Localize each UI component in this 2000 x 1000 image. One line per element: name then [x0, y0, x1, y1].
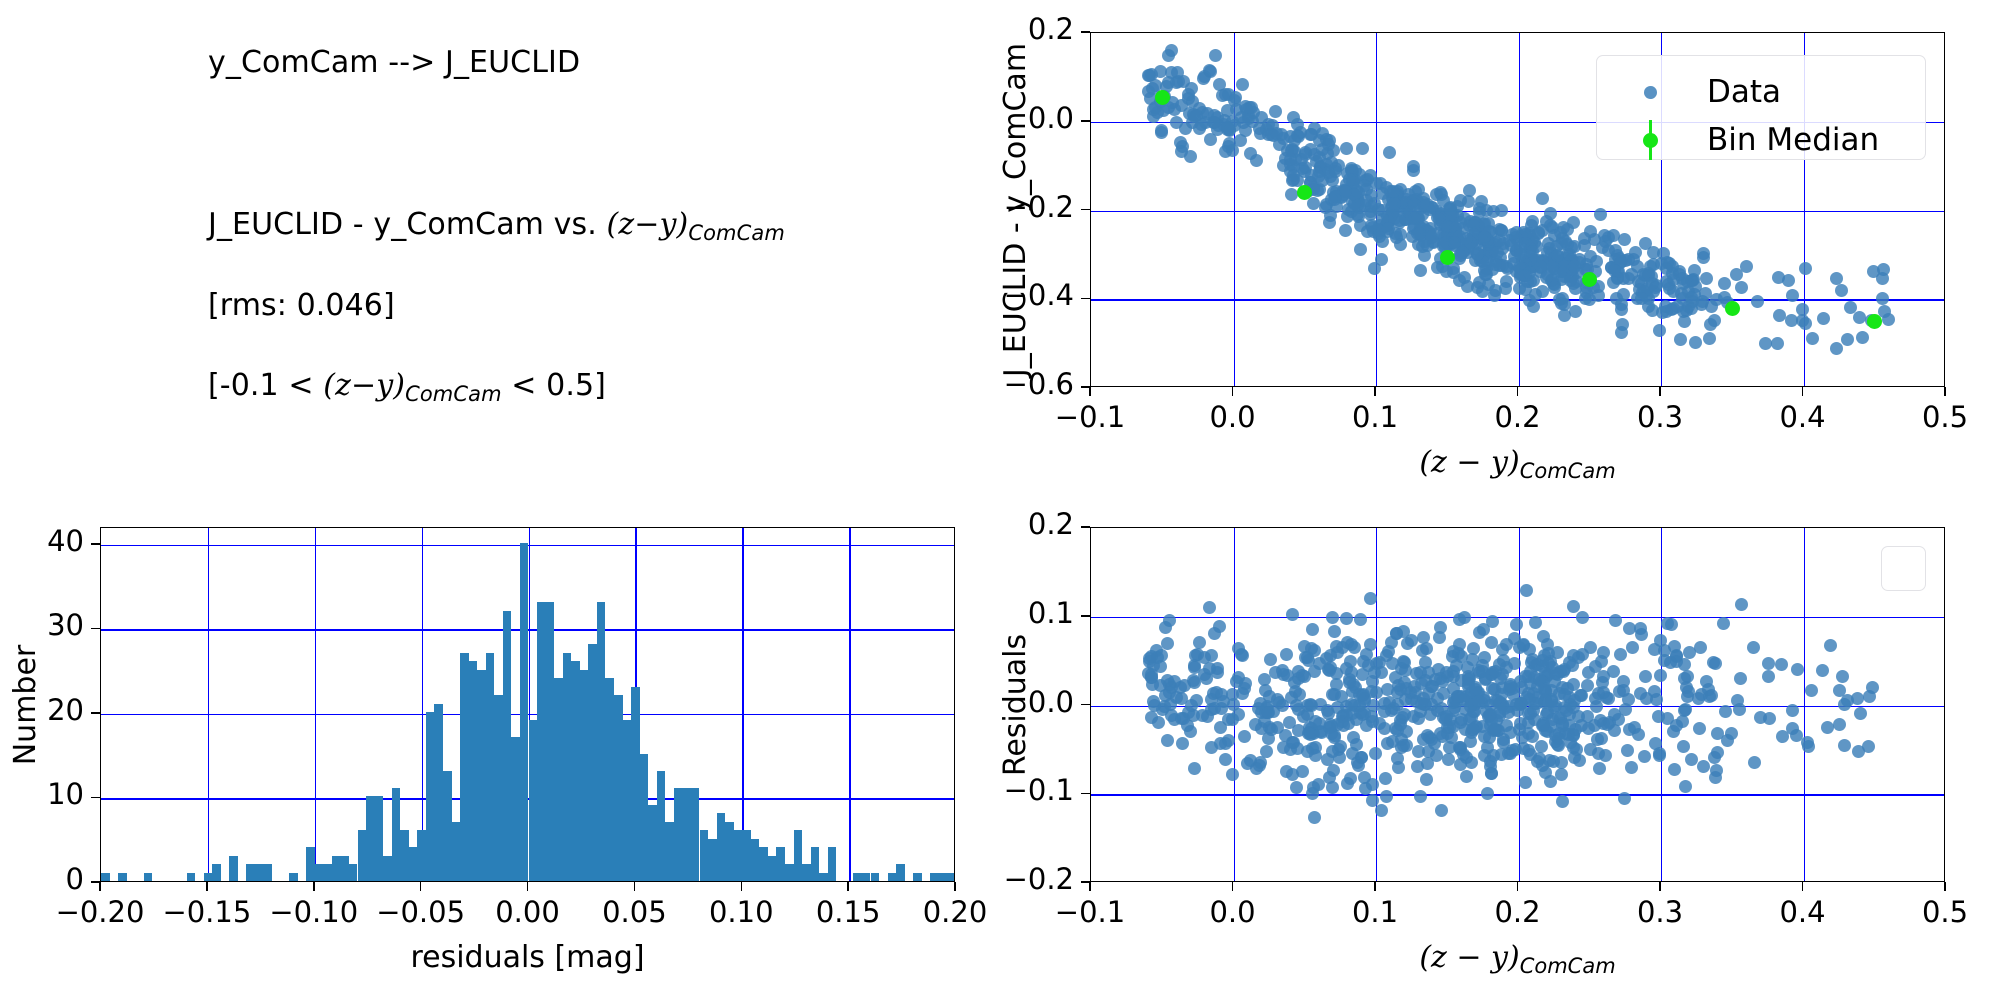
x-tick [1944, 882, 1946, 891]
residual-point [1626, 641, 1639, 654]
x-tick [1089, 882, 1091, 891]
residual-point [1340, 612, 1353, 625]
residual-point [1285, 691, 1298, 704]
residual-point [1510, 618, 1523, 631]
residual-point [1161, 734, 1174, 747]
residual-point [1205, 693, 1218, 706]
residual-point [1623, 622, 1636, 635]
x-tick-label: 0.2 [1448, 895, 1588, 929]
residual-point [1517, 638, 1530, 651]
residual-point [1467, 642, 1480, 655]
residual-point [1821, 721, 1834, 734]
residual-point [1685, 753, 1698, 766]
residual-point [1623, 723, 1636, 736]
residual-point [1412, 745, 1425, 758]
residual-point [1238, 730, 1251, 743]
x-tick [1802, 882, 1804, 891]
residual-point [1190, 694, 1203, 707]
residual-point [1375, 804, 1388, 817]
residual-point [1582, 722, 1595, 735]
residual-point [1308, 811, 1321, 824]
residual-point [1236, 649, 1249, 662]
residual-point [1754, 711, 1767, 724]
bin-median-point [1155, 90, 1170, 105]
x-tick-label: 0.3 [1590, 895, 1730, 929]
residual-point [1852, 745, 1865, 758]
residual-point [1519, 776, 1532, 789]
y-tick-label: −0.2 [914, 862, 1074, 896]
y-tick-label: 0.2 [914, 507, 1074, 541]
residual-point [1469, 681, 1482, 694]
figure-canvas: y_ComCam --> J_EUCLID J_EUCLID - y_ComCa… [0, 0, 2000, 1000]
residual-point [1453, 638, 1466, 651]
residual-point [1497, 736, 1510, 749]
residual-point [1670, 650, 1683, 663]
residual-point [1301, 651, 1314, 664]
residual-point [1264, 653, 1277, 666]
residual-point [1776, 730, 1789, 743]
residual-point [1280, 648, 1293, 661]
residual-point [1561, 682, 1574, 695]
residual-point [1762, 657, 1775, 670]
x-tick [1232, 882, 1234, 891]
x-tick-label: 0.1 [1305, 895, 1445, 929]
residual-point [1344, 772, 1357, 785]
residual-point [1639, 670, 1652, 683]
residual-point [1260, 745, 1273, 758]
residual-point [1618, 792, 1631, 805]
residual-point [1617, 675, 1630, 688]
residual-point [1677, 740, 1690, 753]
residual-point [1405, 634, 1418, 647]
residual-point [1321, 753, 1334, 766]
residual-point [1790, 729, 1803, 742]
residual-point [1283, 716, 1296, 729]
residual-point [1176, 737, 1189, 750]
residual-point [1161, 637, 1174, 650]
residual-point [1556, 795, 1569, 808]
residual-point [1653, 749, 1666, 762]
residual-point [1625, 761, 1638, 774]
residual-point [1453, 741, 1466, 754]
residual-point [1576, 611, 1589, 624]
x-axis-label: (z − y)ComCam [1358, 940, 1678, 978]
residual-point [1203, 601, 1216, 614]
residual-point [1838, 739, 1851, 752]
residual-point [1576, 648, 1589, 661]
residual-point [1458, 611, 1471, 624]
residual-point [1416, 644, 1429, 657]
residual-point [1288, 676, 1301, 689]
residual-point [1460, 770, 1473, 783]
residual-point [1472, 695, 1485, 708]
residual-point [1654, 669, 1667, 682]
residual-point [1592, 747, 1605, 760]
residual-point [1429, 673, 1442, 686]
residual-point [1286, 608, 1299, 621]
residual-point [1735, 598, 1748, 611]
residual-point [1290, 781, 1303, 794]
residual-point [1692, 692, 1705, 705]
residual-point [1390, 627, 1403, 640]
residual-point [1694, 641, 1707, 654]
residual-point [1346, 747, 1359, 760]
residual-point [1253, 759, 1266, 772]
residual-point [1535, 740, 1548, 753]
residual-point [1734, 672, 1747, 685]
residual-point [1700, 675, 1713, 688]
residual-point [1531, 680, 1544, 693]
grid-line-vertical [1661, 528, 1662, 881]
x-tick-label: 0.5 [1875, 895, 2000, 929]
residual-point [1721, 734, 1734, 747]
residual-point [1478, 730, 1491, 743]
residual-point [1433, 631, 1446, 644]
residual-point [1391, 698, 1404, 711]
residual-point [1452, 690, 1465, 703]
residual-point [1593, 762, 1606, 775]
residual-point [1421, 757, 1434, 770]
residual-point [1547, 755, 1560, 768]
residual-point [1145, 671, 1158, 684]
x-tick-label: 0.0 [1163, 895, 1303, 929]
residual-point [1676, 715, 1689, 728]
residual-point [1480, 705, 1493, 718]
residual-point [1358, 707, 1371, 720]
residual-point [1747, 641, 1760, 654]
residual-point [1147, 695, 1160, 708]
residual-point [1708, 751, 1721, 764]
residual-point [1719, 705, 1732, 718]
residual-point [1378, 705, 1391, 718]
residual-point [1529, 616, 1542, 629]
residual-point [1622, 693, 1635, 706]
residual-point [1366, 794, 1379, 807]
residual-point [1693, 722, 1706, 735]
residual-point [1520, 584, 1533, 597]
residual-point [1558, 663, 1571, 676]
residual-point [1414, 790, 1427, 803]
residual-point [1500, 661, 1513, 674]
y-tick [1081, 881, 1090, 883]
residual-point [1435, 804, 1448, 817]
residual-point [1309, 715, 1322, 728]
residual-point [1621, 744, 1634, 757]
residual-point [1595, 655, 1608, 668]
residual-point [1327, 764, 1340, 777]
residual-point [1590, 700, 1603, 713]
residual-point [1359, 782, 1372, 795]
residual-point [1301, 745, 1314, 758]
residual-point [1265, 723, 1278, 736]
grid-line-vertical [1804, 528, 1805, 881]
residual-point [1188, 762, 1201, 775]
residual-point [1380, 790, 1393, 803]
residual-point [1762, 670, 1775, 683]
residual-point [1305, 699, 1318, 712]
residual-point [1306, 787, 1319, 800]
residual-point [1342, 717, 1355, 730]
x-tick [1374, 882, 1376, 891]
residual-point [1271, 693, 1284, 706]
residual-point [1147, 659, 1160, 672]
residual-point [1400, 682, 1413, 695]
residual-point [1369, 747, 1382, 760]
residual-point [1306, 623, 1319, 636]
residual-point [1638, 750, 1651, 763]
residual-point [1326, 611, 1339, 624]
residual-point [1232, 671, 1245, 684]
residual-point [1863, 690, 1876, 703]
residual-point [1203, 662, 1216, 675]
residual-scatter-panel: −0.10.00.10.20.30.40.5−0.2−0.10.00.10.2(… [0, 0, 2000, 1000]
x-tick [1659, 882, 1661, 891]
residual-point [1420, 773, 1433, 786]
residual-point [1262, 706, 1275, 719]
y-tick-label: −0.1 [914, 773, 1074, 807]
residual-legend[interactable] [1881, 546, 1926, 591]
residual-point [1679, 780, 1692, 793]
residual-point [1175, 712, 1188, 725]
x-tick-label: −0.1 [1020, 895, 1160, 929]
residual-point [1159, 621, 1172, 634]
bin-median-point [1440, 250, 1455, 265]
residual-point [1841, 694, 1854, 707]
residual-point [1697, 760, 1710, 773]
y-axis-label: Residuals [998, 525, 1033, 885]
residual-point [1833, 718, 1846, 731]
bin-median-point [1725, 301, 1740, 316]
residual-point [1382, 645, 1395, 658]
residual-point [1415, 677, 1428, 690]
y-tick [1081, 615, 1090, 617]
residual-point [1354, 613, 1367, 626]
residual-point [1298, 640, 1311, 653]
residual-point [1379, 772, 1392, 785]
residual-point [1681, 670, 1694, 683]
residual-point [1748, 756, 1761, 769]
residual-point [1193, 636, 1206, 649]
x-tick [1517, 882, 1519, 891]
residual-point [1786, 704, 1799, 717]
residual-point [1205, 649, 1218, 662]
residual-point [1609, 614, 1622, 627]
residual-point [1555, 768, 1568, 781]
residual-point [1495, 688, 1508, 701]
residual-point [1816, 664, 1829, 677]
residual-point [1824, 639, 1837, 652]
residual-point [1419, 656, 1432, 669]
residual-point [1296, 765, 1309, 778]
residual-point [1668, 763, 1681, 776]
residual-point [1634, 687, 1647, 700]
residual-point [1368, 666, 1381, 679]
residual-point [1219, 753, 1232, 766]
residual-point [1364, 592, 1377, 605]
residual-point [1612, 713, 1625, 726]
residual-point [1344, 655, 1357, 668]
residual-point [1517, 742, 1530, 755]
residual-point [1805, 684, 1818, 697]
bin-median-point [1582, 272, 1597, 287]
residual-point [1442, 753, 1455, 766]
y-tick [1081, 793, 1090, 795]
residual-point [1569, 723, 1582, 736]
y-tick-label: 0.0 [914, 685, 1074, 719]
residual-point [1836, 670, 1849, 683]
residual-point [1801, 736, 1814, 749]
residual-point [1556, 719, 1569, 732]
residual-point [1854, 707, 1867, 720]
residual-point [1287, 736, 1300, 749]
residual-point [1661, 617, 1674, 630]
residual-point [1360, 719, 1373, 732]
grid-line-horizontal [1091, 794, 1944, 795]
residual-point [1544, 775, 1557, 788]
residual-point [1717, 617, 1730, 630]
residual-point [1791, 663, 1804, 676]
residual-point [1269, 666, 1282, 679]
residual-point [1649, 737, 1662, 750]
residual-point [1648, 643, 1661, 656]
residual-point [1485, 636, 1498, 649]
residual-point [1635, 628, 1648, 641]
residual-point [1652, 710, 1665, 723]
residual-point [1280, 765, 1293, 778]
y-tick-label: 0.1 [914, 596, 1074, 630]
residual-point [1145, 711, 1158, 724]
residual-point [1473, 626, 1486, 639]
residual-point [1213, 620, 1226, 633]
residual-point [1328, 625, 1341, 638]
residual-point [1481, 787, 1494, 800]
residual-point [1323, 664, 1336, 677]
residual-point [1214, 737, 1227, 750]
x-tick-label: 0.4 [1733, 895, 1873, 929]
residual-point [1775, 658, 1788, 671]
residual-point [1226, 768, 1239, 781]
residual-point [1522, 670, 1535, 683]
residual-point [1395, 662, 1408, 675]
residual-point [1348, 641, 1361, 654]
residual-point [1241, 757, 1254, 770]
y-tick [1081, 704, 1090, 706]
residual-point [1395, 733, 1408, 746]
residual-point [1392, 761, 1405, 774]
residual-axes [1090, 527, 1945, 882]
y-tick [1081, 526, 1090, 528]
residual-point [1614, 648, 1627, 661]
